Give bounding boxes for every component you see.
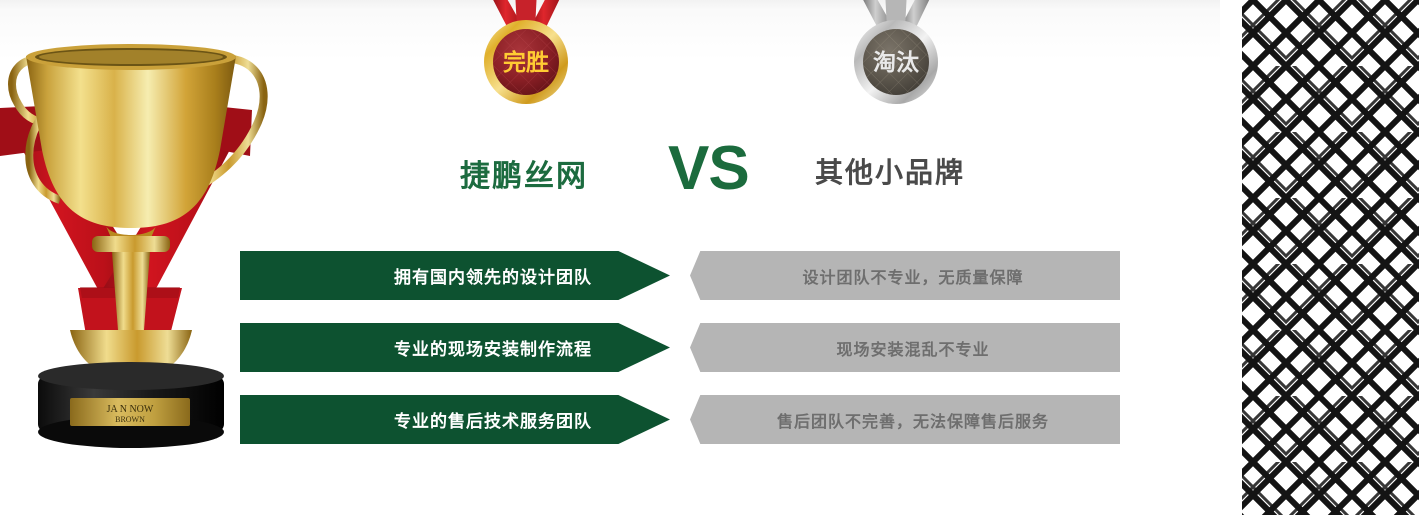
gold-medal-icon: 完胜 (455, 0, 600, 125)
pro-text: 专业的现场安装制作流程 (394, 335, 670, 360)
our-brand-label: 捷鹏丝网 (460, 151, 588, 195)
pro-arrow-1: 拥有国内领先的设计团队 (240, 251, 670, 300)
con-text: 售后团队不完善，无法保障售后服务 (761, 408, 1049, 432)
con-arrow-1: 设计团队不专业，无质量保障 (690, 251, 1120, 300)
con-arrow-2: 现场安装混乱不专业 (690, 323, 1120, 372)
pro-arrow-2: 专业的现场安装制作流程 (240, 323, 670, 372)
vs-label: VS (668, 133, 749, 204)
gold-medal: 完胜 (455, 0, 600, 125)
con-arrow-3: 售后团队不完善，无法保障售后服务 (690, 395, 1120, 444)
silver-medal-icon: 淘汰 (825, 0, 970, 125)
trophy-base: JA N NOW BROWN (38, 362, 224, 448)
comparison-row: 专业的现场安装制作流程 现场安装混乱不专业 (240, 323, 1120, 372)
pro-text: 拥有国内领先的设计团队 (394, 263, 670, 288)
con-text: 现场安装混乱不专业 (820, 336, 989, 360)
silver-medal-label: 淘汰 (873, 49, 920, 75)
headline-row: 捷鹏丝网 VS 其他小品牌 (420, 143, 1000, 203)
comparison-row: 拥有国内领先的设计团队 设计团队不专业，无质量保障 (240, 251, 1120, 300)
plaque-line1: JA N NOW (107, 404, 154, 415)
plaque-line2: BROWN (115, 415, 145, 424)
chain-link-fence-image (1220, 0, 1419, 515)
gold-medal-label: 完胜 (503, 49, 549, 75)
promo-banner: JA N NOW BROWN (0, 0, 1419, 515)
pro-arrow-3: 专业的售后技术服务团队 (240, 395, 670, 444)
silver-medal: 淘汰 (825, 0, 970, 125)
pro-text: 专业的售后技术服务团队 (394, 407, 670, 432)
comparison-row: 专业的售后技术服务团队 售后团队不完善，无法保障售后服务 (240, 395, 1120, 444)
comparison-table: 拥有国内领先的设计团队 设计团队不专业，无质量保障 专业的现场安装制作流程 现场… (240, 251, 1120, 444)
con-text: 设计团队不专业，无质量保障 (786, 264, 1023, 288)
other-brand-label: 其他小品牌 (815, 151, 965, 191)
chain-link-fence-icon (1220, 0, 1419, 515)
